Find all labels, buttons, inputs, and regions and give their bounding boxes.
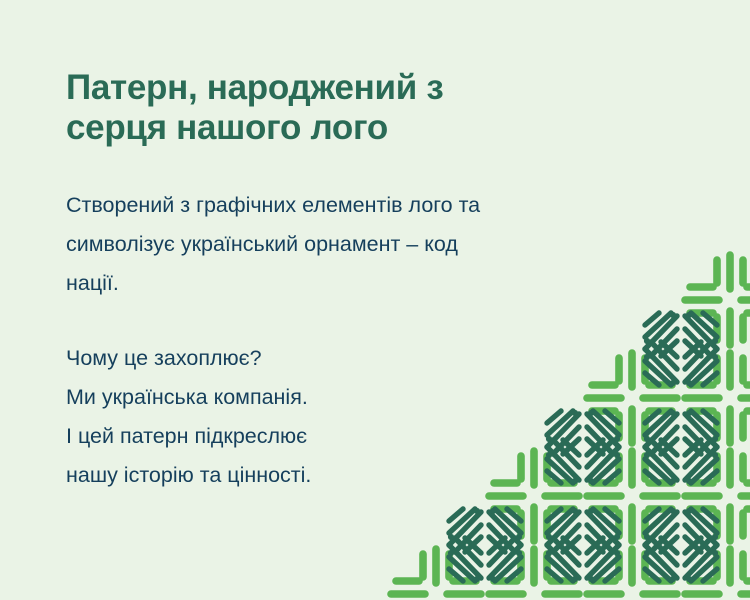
pattern-hatch-motif-4	[546, 508, 620, 582]
pattern-hatch-motif-3	[448, 508, 522, 582]
page-title: Патерн, народжений з серця нашого лого	[66, 68, 626, 148]
pattern-cross-motif-8	[587, 549, 677, 600]
pattern-hatch-motif-5	[644, 508, 718, 582]
pattern-hatch-motif-2	[644, 410, 718, 484]
pattern-cross-motif-6	[391, 549, 481, 600]
slide-canvas: Патерн, народжений з серця нашого лого С…	[0, 0, 750, 600]
pattern-cross-motif-7	[489, 549, 579, 600]
pattern-cross-motif-0	[685, 255, 750, 345]
text-block: Патерн, народжений з серця нашого лого С…	[66, 68, 626, 495]
pattern-cross-motif-5	[685, 451, 750, 541]
pattern-cross-motif-9	[685, 549, 750, 600]
body-paragraph-2: Чому це захоплює? Ми українська компанія…	[66, 339, 626, 495]
body-paragraph-1: Створений з графічних елементів лого та …	[66, 186, 626, 303]
pattern-hatch-motif-0	[644, 312, 718, 386]
pattern-cross-motif-2	[685, 353, 750, 443]
